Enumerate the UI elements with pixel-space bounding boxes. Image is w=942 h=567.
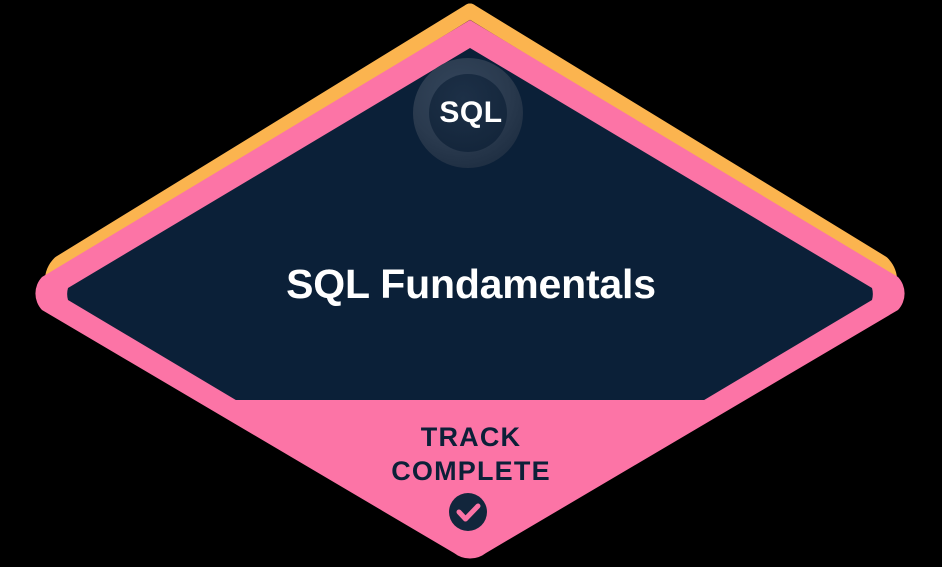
completion-check-circle [449,493,487,531]
badge-graphic [0,0,942,567]
sql-chip-inner [429,74,507,152]
track-completion-badge: SQL SQL Fundamentals TRACK COMPLETE [0,0,942,567]
